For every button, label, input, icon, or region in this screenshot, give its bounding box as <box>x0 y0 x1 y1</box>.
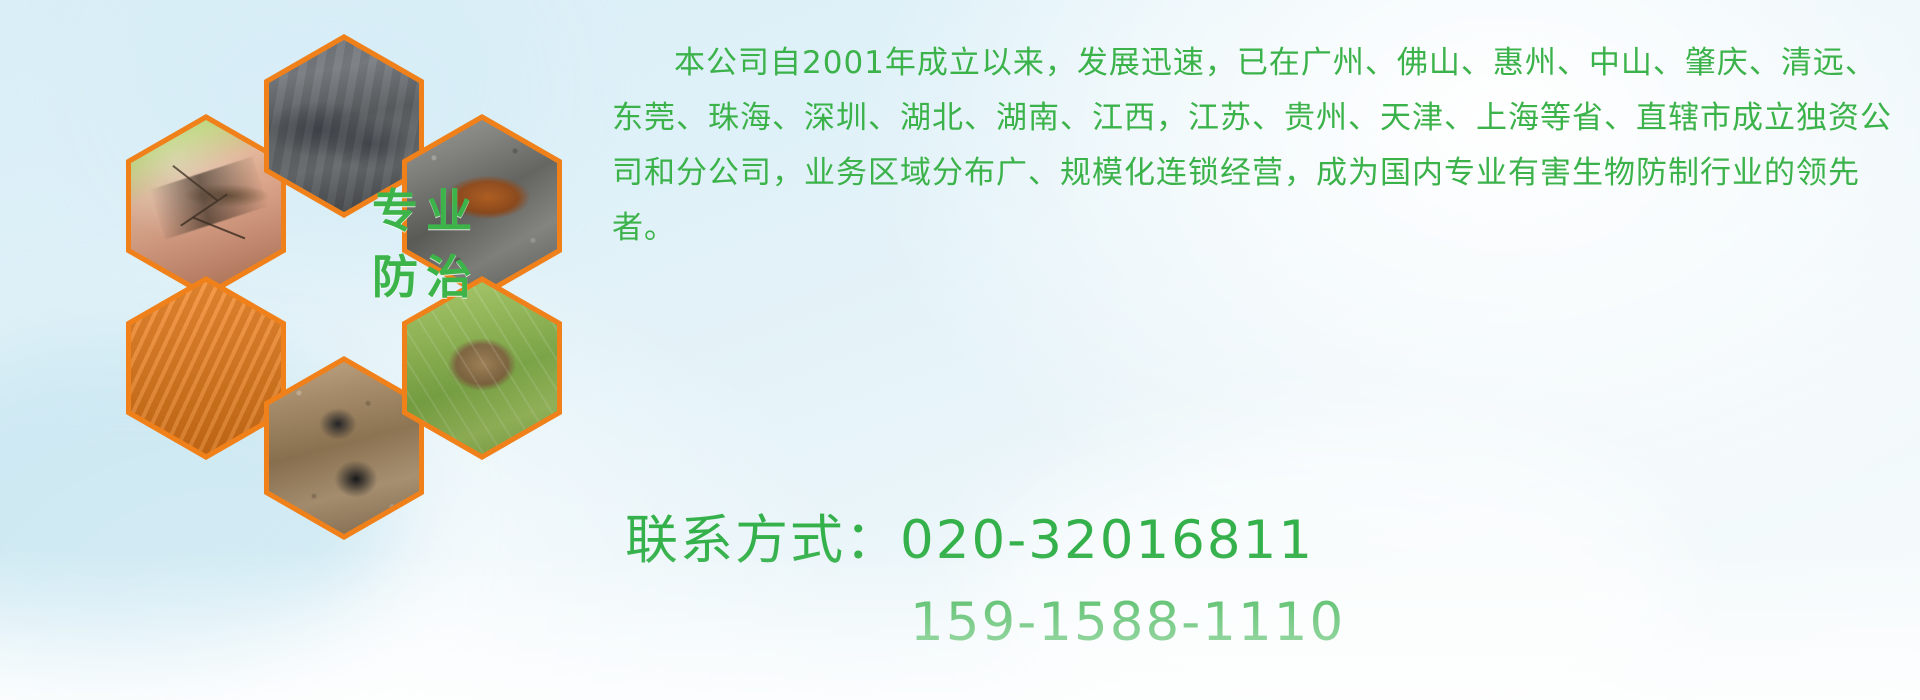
flies-icon <box>131 282 281 454</box>
hexagon-photo-collage: 专业 防治 <box>86 8 586 568</box>
promo-banner: 专业 防治 本公司自2001年成立以来，发展迅速，已在广州、佛山、惠州、中山、肇… <box>0 0 1920 700</box>
contact-line-primary[interactable]: 联系方式：020-32016811 <box>625 510 1314 571</box>
hex-cell-ant <box>264 356 424 540</box>
hex-cell-mosquito <box>126 114 286 298</box>
ant-icon <box>269 362 419 534</box>
company-intro-paragraph: 本公司自2001年成立以来，发展迅速，已在广州、佛山、惠州、中山、肇庆、清远、东… <box>612 36 1907 256</box>
intro-copy-block: 本公司自2001年成立以来，发展迅速，已在广州、佛山、惠州、中山、肇庆、清远、东… <box>612 36 1912 256</box>
hex-cell-flies <box>126 276 286 460</box>
logo-slogan: 专业 防治 <box>331 178 521 310</box>
contact-block: 联系方式：020-32016811 159-1588-1110 <box>625 500 1345 664</box>
logo-slogan-line-1: 专业 <box>331 178 521 244</box>
contact-line-mobile[interactable]: 159-1588-1110 <box>625 582 1345 664</box>
logo-slogan-line-2: 防治 <box>331 244 521 310</box>
mosquito-icon <box>150 156 269 239</box>
